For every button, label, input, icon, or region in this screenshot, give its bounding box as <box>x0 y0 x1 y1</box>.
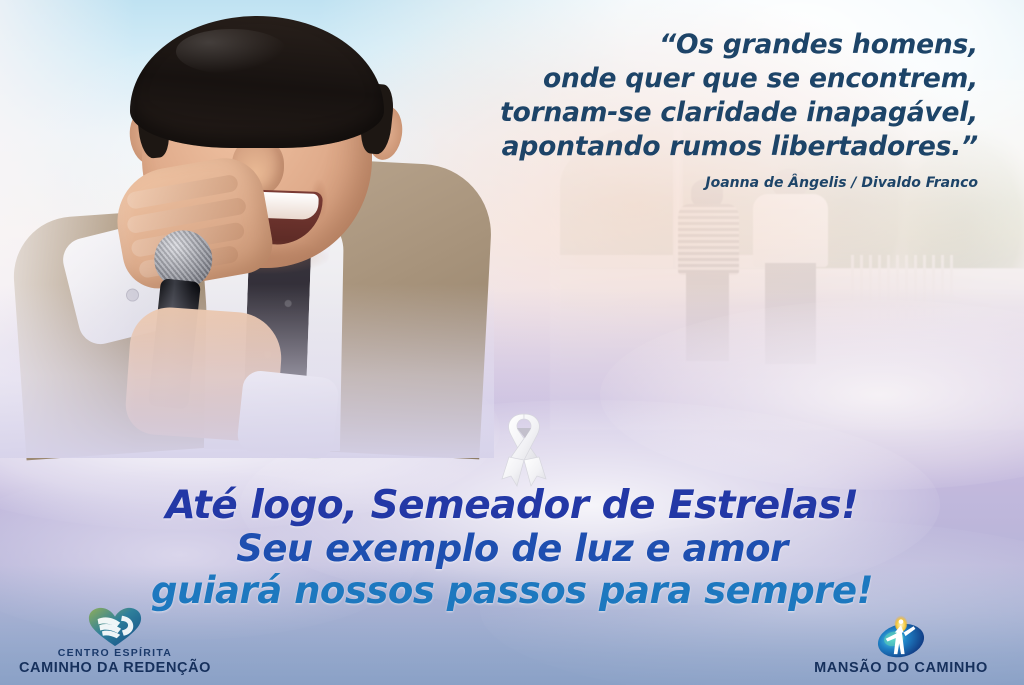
globe-with-figure-and-flame-icon <box>786 618 1016 660</box>
headline-line-3: guiará nossos passos para sempre! <box>0 572 1024 610</box>
headline-line-2: Seu exemplo de luz e amor <box>0 530 1024 568</box>
logo-left-line-1: CENTRO ESPÍRITA <box>10 647 220 660</box>
quote-line-4: apontando rumos libertadores.” <box>500 130 978 164</box>
headline-block: Até logo, Semeador de Estrelas! Seu exem… <box>0 486 1024 609</box>
heart-of-hands-icon <box>10 605 220 647</box>
logo-centro-espirita[interactable]: CENTRO ESPÍRITA CAMINHO DA REDENÇÃO <box>10 605 220 677</box>
quote-block: “Os grandes homens, onde quer que se enc… <box>500 28 978 191</box>
portrait-shirt-cuff-lower <box>236 369 340 461</box>
quote-line-2: onde quer que se encontrem, <box>500 62 978 96</box>
logo-left-line-2: CAMINHO DA REDENÇÃO <box>10 660 220 677</box>
white-ribbon-icon <box>487 408 561 490</box>
memorial-poster: “Os grandes homens, onde quer que se enc… <box>0 0 1024 685</box>
quote-line-3: tornam-se claridade inapagável, <box>500 96 978 130</box>
logo-mansao-do-caminho[interactable]: MANSÃO DO CAMINHO <box>786 618 1016 677</box>
quote-author: Joanna de Ângelis / Divaldo Franco <box>500 175 978 191</box>
logo-right-line-2: MANSÃO DO CAMINHO <box>786 660 1016 677</box>
quote-line-1: “Os grandes homens, <box>500 28 978 62</box>
headline-line-1: Até logo, Semeador de Estrelas! <box>0 486 1024 526</box>
portrait-hair <box>130 16 384 148</box>
portrait-cuff-button <box>126 288 139 301</box>
portrait-divaldo-franco <box>10 14 480 444</box>
